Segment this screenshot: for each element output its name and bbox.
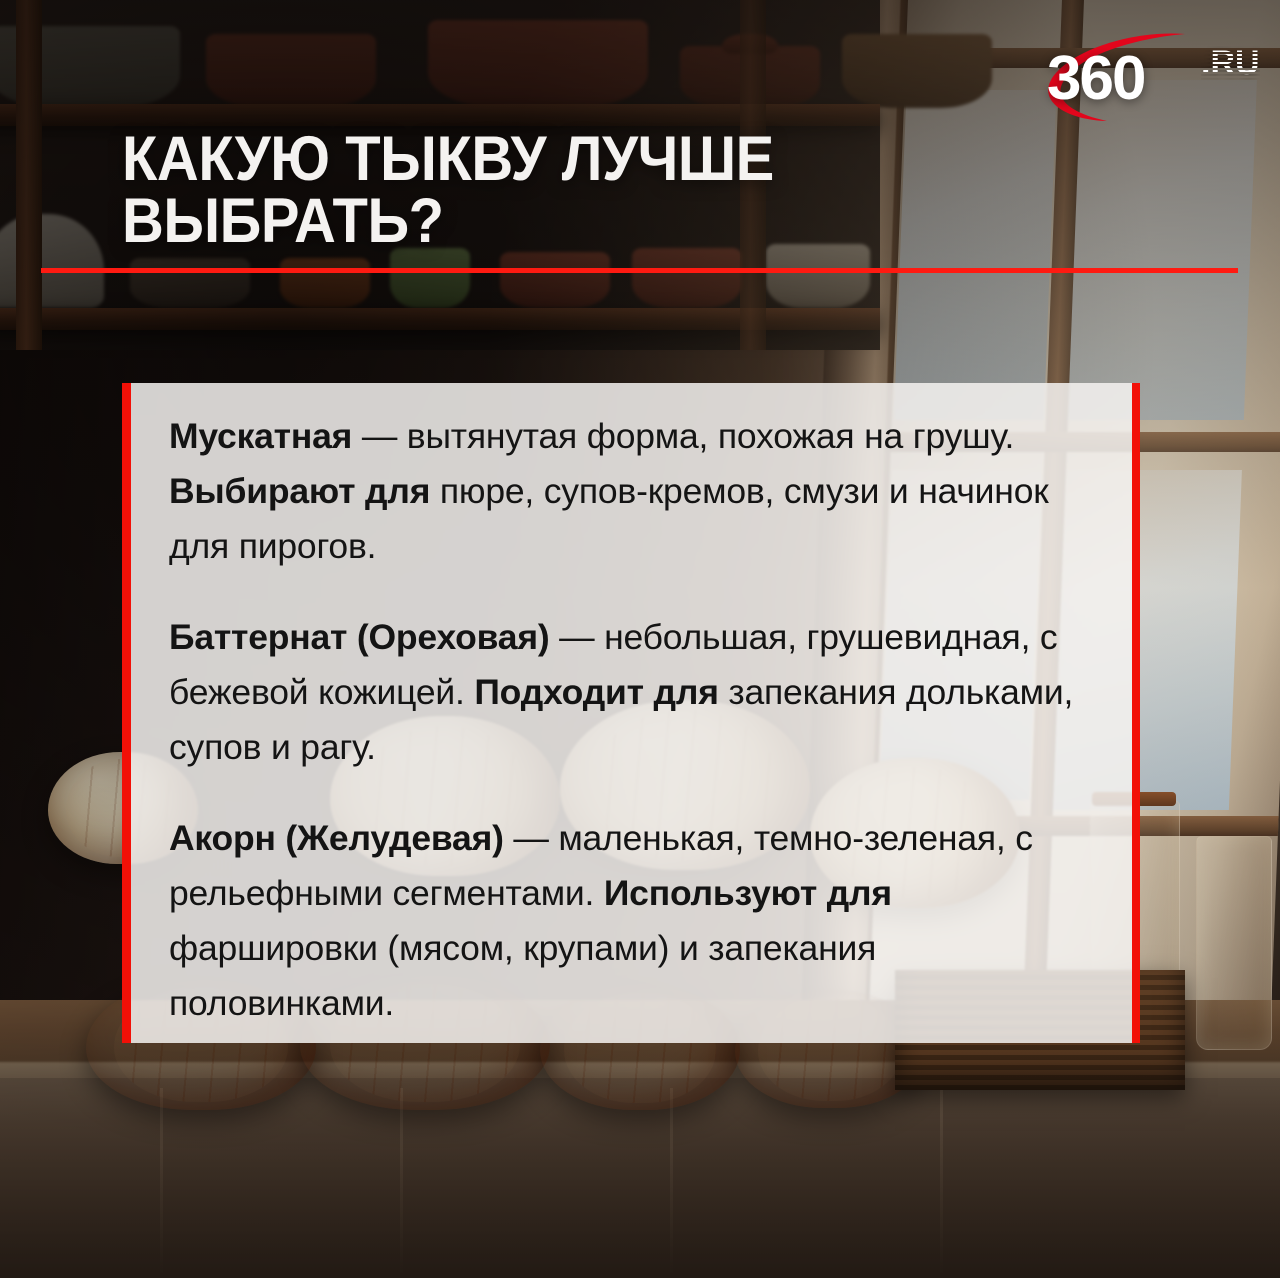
term-butternut: Баттернат (Ореховая) [169, 617, 549, 657]
paragraph-muscat: Мускатная — вытянутая форма, похожая на … [169, 409, 1092, 574]
logo-tld: .RU [1201, 46, 1260, 80]
infographic-card: 360 .RU КАКУЮ ТЫКВУ ЛУЧШЕ ВЫБРАТЬ? Муска… [0, 0, 1280, 1278]
text-muscat-mid: — вытянутая форма, похожая на грушу. [352, 416, 1014, 456]
360-ru-logo[interactable]: 360 .RU [1033, 22, 1263, 127]
term-acorn: Акорн (Желудевая) [169, 818, 504, 858]
term-muscat: Мускатная [169, 416, 352, 456]
title-divider [41, 268, 1238, 273]
paragraph-butternut: Баттернат (Ореховая) — небольшая, грушев… [169, 610, 1092, 775]
paragraph-acorn: Акорн (Желудевая) — маленькая, темно-зел… [169, 811, 1092, 1031]
content-card: Мускатная — вытянутая форма, похожая на … [122, 383, 1140, 1043]
page-title: КАКУЮ ТЫКВУ ЛУЧШЕ ВЫБРАТЬ? [122, 128, 1042, 252]
phrase-acorn-use: Используют для [604, 873, 892, 913]
logo-text: 360 [1047, 48, 1144, 110]
phrase-muscat-use: Выбирают для [169, 471, 430, 511]
phrase-butternut-use: Подходит для [474, 672, 718, 712]
text-acorn-tail: фаршировки (мясом, крупами) и запекания … [169, 928, 876, 1023]
